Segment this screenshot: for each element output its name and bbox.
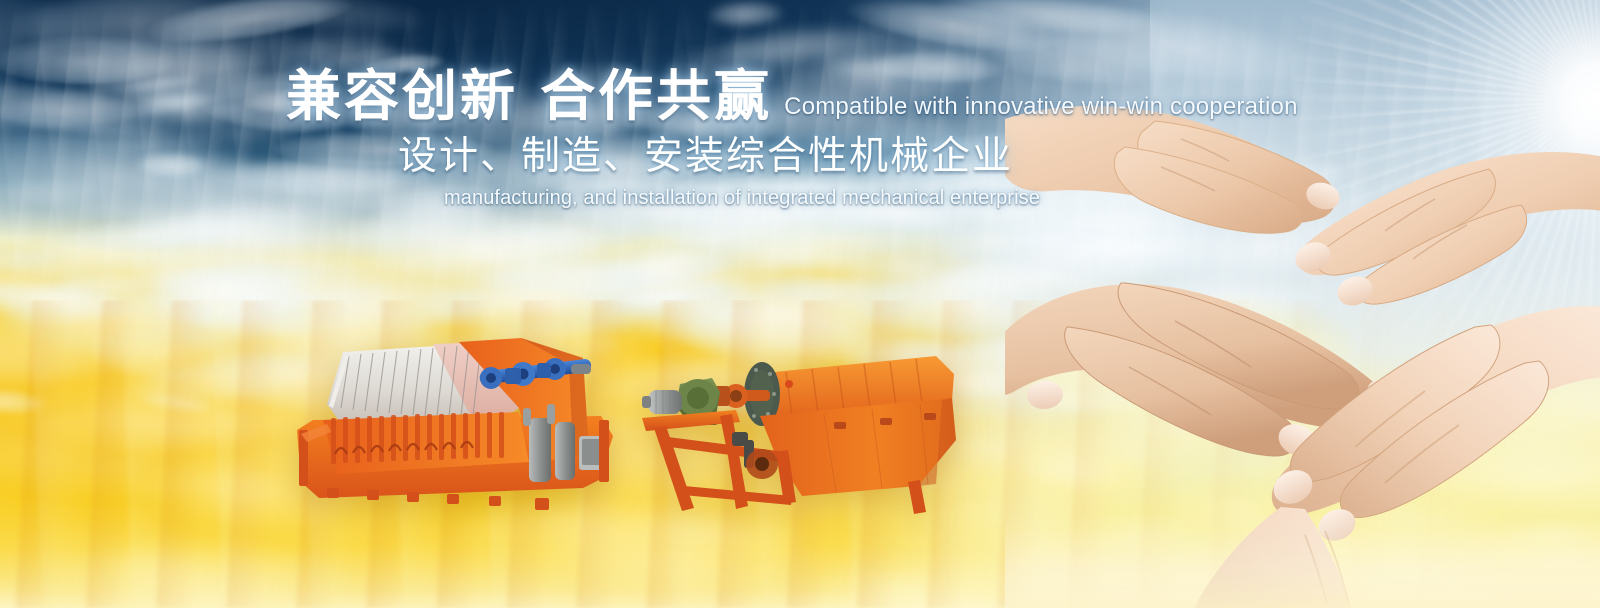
- headline-block: 兼容创新 合作共赢 Compatible with innovative win…: [286, 66, 1246, 210]
- headline-subtitle-row: 设计、制造、安装综合性机械企业: [286, 134, 1246, 180]
- hand-upper-right: [1291, 152, 1600, 310]
- promotional-banner: 兼容创新 合作共赢 Compatible with innovative win…: [0, 0, 1600, 608]
- headline-title-cn: 兼容创新 合作共赢: [286, 66, 772, 126]
- drum-magnetic-separator-image: [636, 336, 966, 516]
- headline-subtitle-en: manufacturing, and installation of integ…: [286, 186, 1246, 210]
- ceramic-disc-vacuum-filter-image: [283, 312, 623, 537]
- headline-subtitle-cn: 设计、制造、安装综合性机械企业: [398, 134, 1013, 179]
- headline-title-en: Compatible with innovative win-win coope…: [784, 94, 1297, 120]
- headline-title-row: 兼容创新 合作共赢 Compatible with innovative win…: [286, 66, 1246, 126]
